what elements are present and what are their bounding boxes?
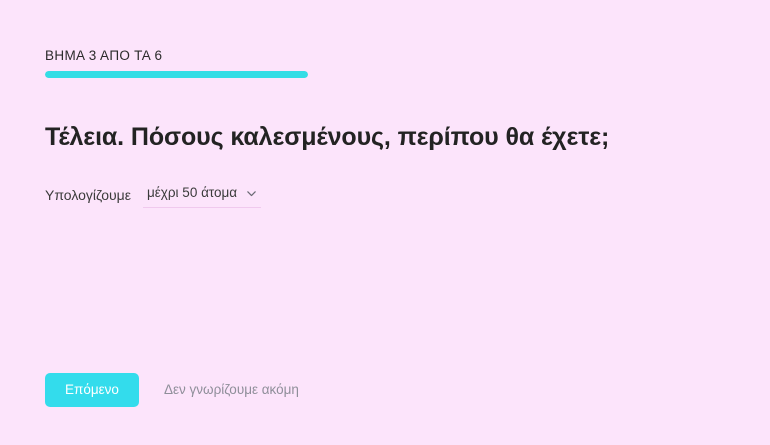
page-title: Τέλεια. Πόσους καλεσμένους, περίπου θα έ… bbox=[45, 121, 609, 153]
progress-bar bbox=[45, 71, 308, 78]
onboarding-step-page: ΒΗΜΑ 3 ΑΠΟ ΤΑ 6 Τέλεια. Πόσους καλεσμένο… bbox=[0, 0, 770, 445]
guest-count-dropdown[interactable]: μέχρι 50 άτομα bbox=[143, 182, 261, 208]
step-indicator-label: ΒΗΜΑ 3 ΑΠΟ ΤΑ 6 bbox=[45, 48, 162, 64]
form-actions: Επόμενο Δεν γνωρίζουμε ακόμη bbox=[45, 373, 299, 407]
chevron-down-icon bbox=[246, 188, 257, 199]
guest-count-value: μέχρι 50 άτομα bbox=[147, 184, 237, 202]
progress-bar-fill bbox=[45, 71, 308, 78]
dont-know-yet-button[interactable]: Δεν γνωρίζουμε ακόμη bbox=[164, 382, 299, 398]
next-button[interactable]: Επόμενο bbox=[45, 373, 139, 407]
guest-estimate-row: Υπολογίζουμε μέχρι 50 άτομα bbox=[45, 182, 261, 208]
guest-estimate-label: Υπολογίζουμε bbox=[45, 185, 131, 205]
